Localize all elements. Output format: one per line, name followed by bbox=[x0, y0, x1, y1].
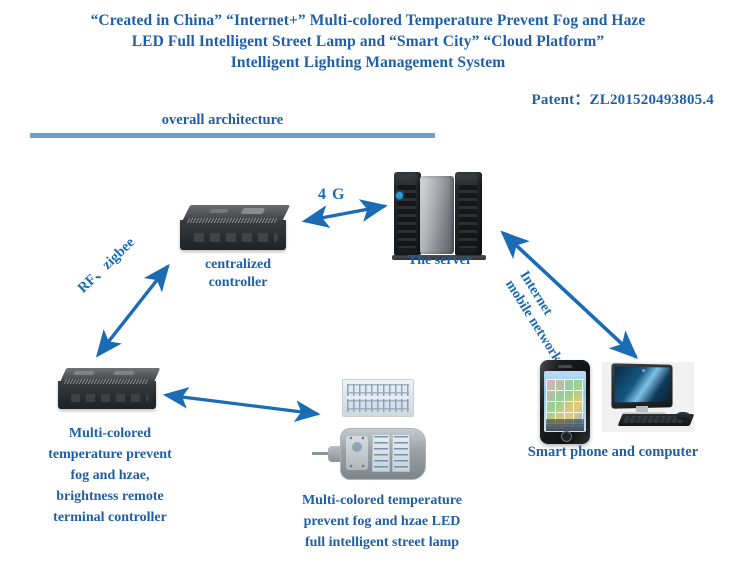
server-icon bbox=[392, 168, 486, 260]
architecture-diagram-canvas: “Created in China” “Internet+” Multi-col… bbox=[0, 0, 736, 565]
computer-mouse bbox=[676, 412, 690, 420]
street-lamp-led-array-right bbox=[392, 434, 410, 472]
terminal-ports bbox=[65, 394, 149, 402]
connector-controller-server bbox=[305, 206, 385, 221]
server-tower-left bbox=[394, 172, 421, 256]
controller-vents bbox=[187, 218, 279, 223]
desktop-computer-icon bbox=[602, 362, 694, 432]
street-lamp-icon bbox=[328, 428, 424, 480]
server-tower-right bbox=[455, 172, 482, 256]
smart-phone-and-computer-label: Smart phone and computer bbox=[498, 443, 728, 461]
smartphone-dock bbox=[546, 419, 584, 431]
server-label: The server bbox=[388, 252, 492, 270]
connector-terminal-controller bbox=[98, 266, 168, 355]
smartphone-screen bbox=[544, 371, 586, 432]
street-lamp-label: Multi-colored temperature prevent fog an… bbox=[260, 490, 504, 553]
centralized-controller-label: centralized controller bbox=[178, 256, 298, 292]
controller-highlight-left bbox=[209, 209, 229, 213]
server-status-led bbox=[396, 192, 403, 199]
led-module-divider bbox=[347, 396, 409, 399]
centralized-controller-icon bbox=[180, 205, 292, 253]
terminal-vents bbox=[64, 379, 150, 384]
computer-webcam-icon bbox=[642, 369, 645, 372]
computer-monitor bbox=[611, 363, 672, 409]
server-tower-center bbox=[420, 176, 454, 254]
terminal-controller-icon bbox=[58, 368, 162, 412]
terminal-highlight-right bbox=[113, 371, 135, 375]
link-label-4g: 4 G bbox=[318, 186, 345, 204]
led-module-icon bbox=[342, 379, 414, 417]
street-lamp-led-array-left bbox=[372, 434, 390, 472]
smartphone-speaker bbox=[558, 365, 572, 368]
street-lamp-screws bbox=[348, 434, 366, 472]
terminal-highlight-left bbox=[73, 371, 95, 375]
smartphone-home-button bbox=[561, 431, 572, 442]
connector-terminal-streetlamp bbox=[166, 395, 318, 414]
terminal-controller-label: Multi-colored temperature prevent fog an… bbox=[18, 423, 202, 528]
smartphone-icon bbox=[540, 360, 590, 444]
controller-ports bbox=[188, 233, 278, 242]
controller-highlight-right bbox=[241, 208, 266, 214]
